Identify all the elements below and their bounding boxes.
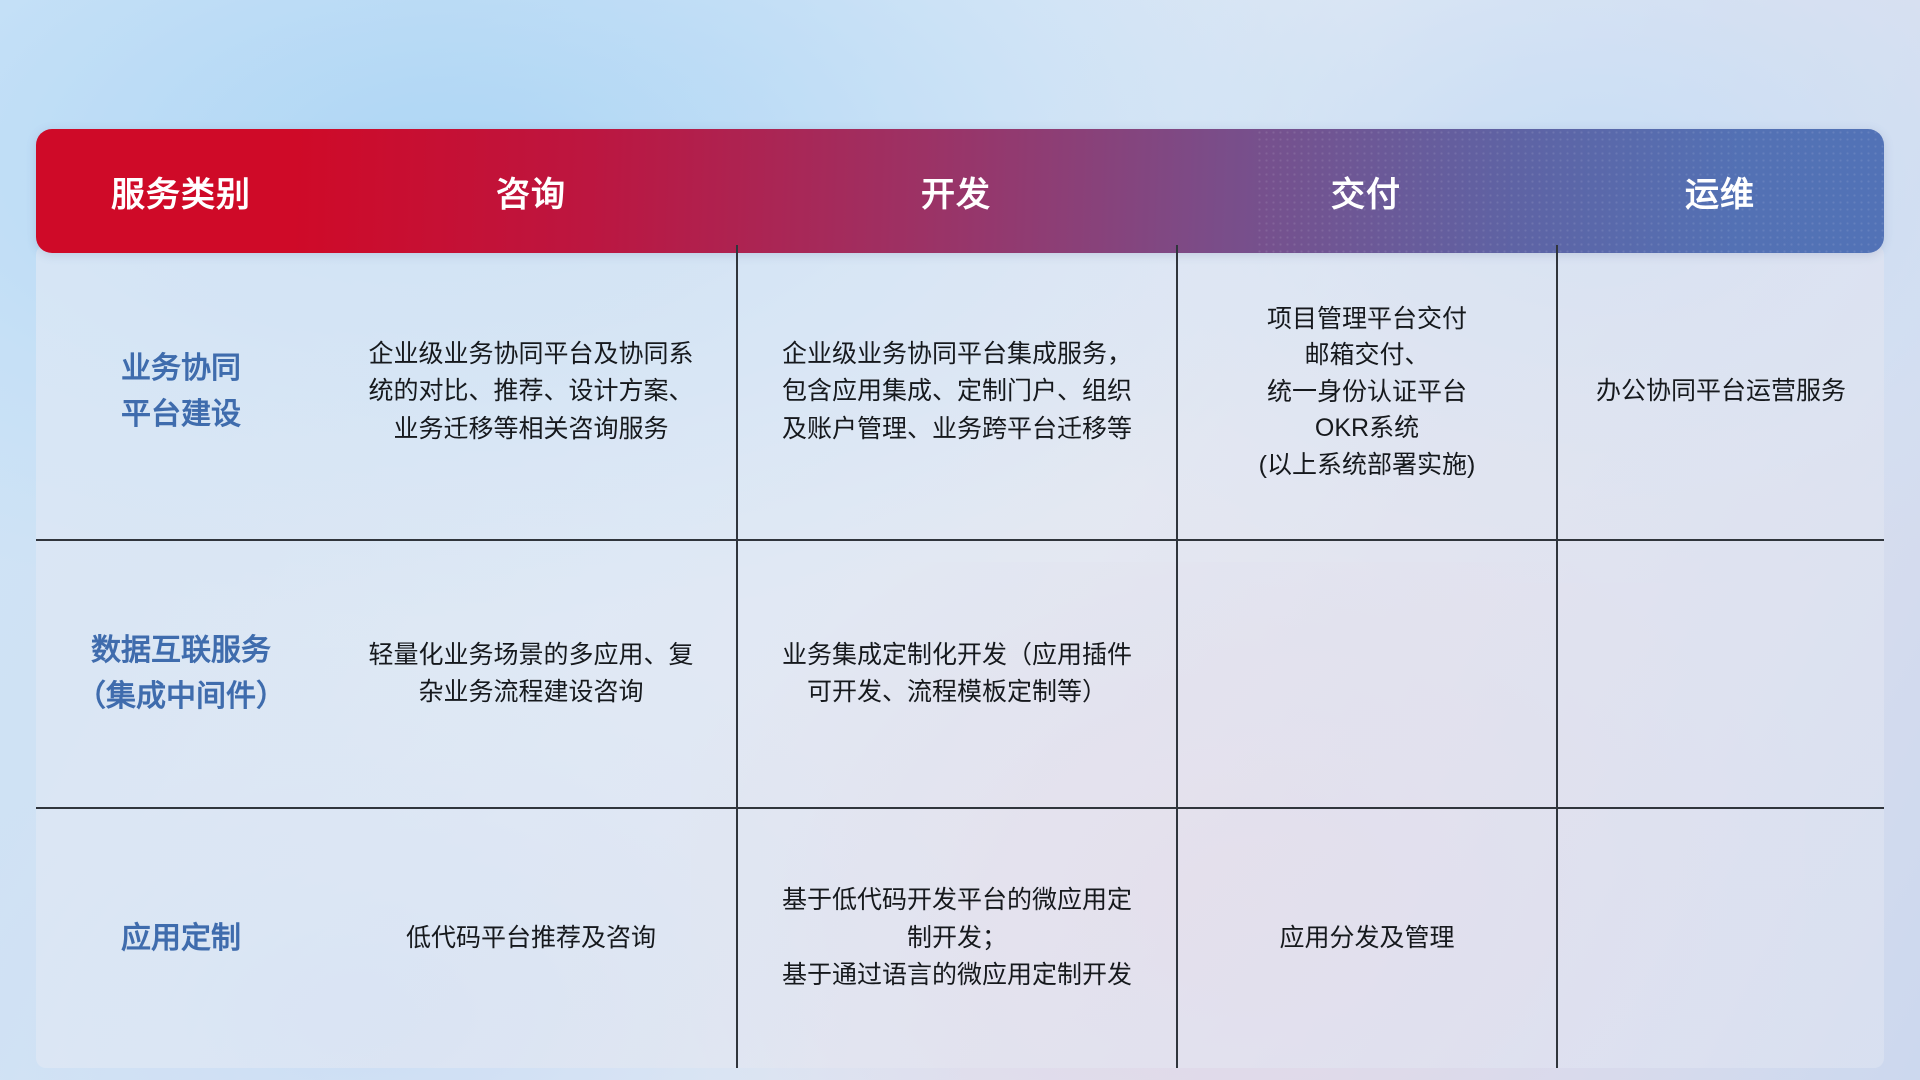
cell-text: 轻量化业务场景的多应用、复 杂业务流程建设咨询 <box>368 637 693 712</box>
row-label-cell: 应用定制 <box>36 809 326 1068</box>
cell-delivery: 应用分发及管理 <box>1176 809 1556 1068</box>
cell-consulting: 低代码平台推荐及咨询 <box>326 809 736 1068</box>
cell-text: 企业级业务协同平台集成服务， 包含应用集成、定制门户、组织 及账户管理、业务跨平… <box>782 336 1132 449</box>
cell-delivery <box>1176 541 1556 807</box>
cell-text: 企业级业务协同平台及协同系 统的对比、推荐、设计方案、 业务迁移等相关咨询服务 <box>368 336 693 449</box>
row-label-text: 业务协同 平台建设 <box>121 346 241 437</box>
row-label-text: 数据互联服务 （集成中间件） <box>76 628 286 719</box>
cell-consulting: 轻量化业务场景的多应用、复 杂业务流程建设咨询 <box>326 541 736 807</box>
cell-delivery: 项目管理平台交付 邮箱交付、 统一身份认证平台 OKR系统 (以上系统部署实施) <box>1176 245 1556 539</box>
cell-operations <box>1556 809 1884 1068</box>
header-cell-development: 开发 <box>736 167 1176 216</box>
header-cell-delivery: 交付 <box>1176 167 1556 216</box>
row-label-cell: 业务协同 平台建设 <box>36 245 326 539</box>
cell-operations: 办公协同平台运营服务 <box>1556 245 1884 539</box>
cell-text: 业务集成定制化开发（应用插件 可开发、流程模板定制等） <box>782 637 1132 712</box>
table-body: 业务协同 平台建设 企业级业务协同平台及协同系 统的对比、推荐、设计方案、 业务… <box>36 245 1884 1068</box>
cell-development: 企业级业务协同平台集成服务， 包含应用集成、定制门户、组织 及账户管理、业务跨平… <box>736 245 1176 539</box>
header-cell-operations: 运维 <box>1556 167 1884 216</box>
row-label-cell: 数据互联服务 （集成中间件） <box>36 541 326 807</box>
service-matrix-table: 服务类别 咨询 开发 交付 运维 业务协同 平台建设 企业级业务协同平台及协同系… <box>36 129 1884 951</box>
table-row: 数据互联服务 （集成中间件） 轻量化业务场景的多应用、复 杂业务流程建设咨询 业… <box>36 541 1884 809</box>
row-label-text: 应用定制 <box>121 916 241 962</box>
cell-operations <box>1556 541 1884 807</box>
header-cell-consulting: 咨询 <box>326 167 736 216</box>
table-header-row: 服务类别 咨询 开发 交付 运维 <box>36 129 1884 253</box>
cell-text: 办公协同平台运营服务 <box>1596 373 1846 411</box>
cell-text: 应用分发及管理 <box>1279 920 1454 958</box>
table-row: 应用定制 低代码平台推荐及咨询 基于低代码开发平台的微应用定 制开发； 基于通过… <box>36 809 1884 1068</box>
cell-text: 基于低代码开发平台的微应用定 制开发； 基于通过语言的微应用定制开发 <box>782 882 1132 995</box>
cell-consulting: 企业级业务协同平台及协同系 统的对比、推荐、设计方案、 业务迁移等相关咨询服务 <box>326 245 736 539</box>
cell-development: 业务集成定制化开发（应用插件 可开发、流程模板定制等） <box>736 541 1176 807</box>
cell-development: 基于低代码开发平台的微应用定 制开发； 基于通过语言的微应用定制开发 <box>736 809 1176 1068</box>
cell-text: 低代码平台推荐及咨询 <box>406 920 656 958</box>
table-row: 业务协同 平台建设 企业级业务协同平台及协同系 统的对比、推荐、设计方案、 业务… <box>36 245 1884 541</box>
header-cell-service-category: 服务类别 <box>36 167 326 216</box>
cell-text: 项目管理平台交付 邮箱交付、 统一身份认证平台 OKR系统 (以上系统部署实施) <box>1259 301 1476 484</box>
